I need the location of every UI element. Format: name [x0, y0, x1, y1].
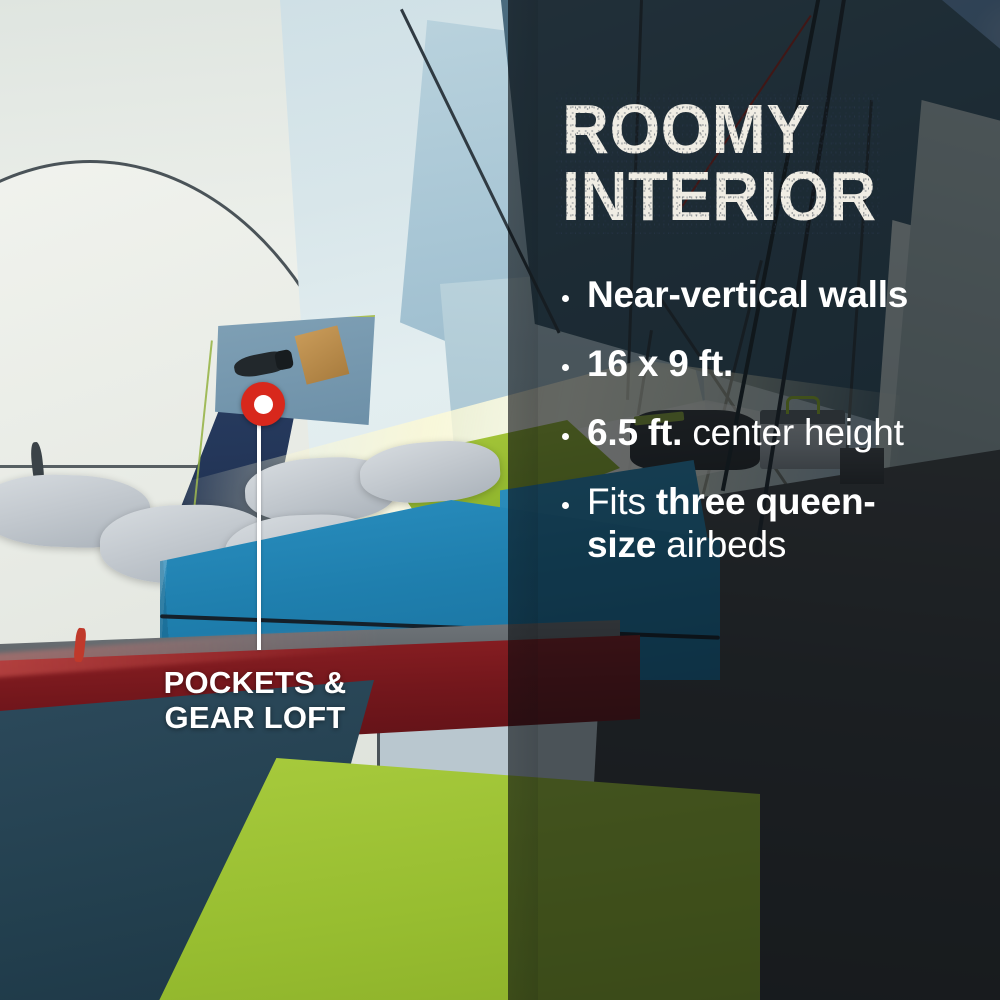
feature-text-4: Fits three queen-size airbeds: [587, 481, 917, 567]
callout-label-line2: GEAR LOFT: [0, 700, 510, 735]
feature-text-4-lead: Fits: [587, 481, 656, 522]
feature-text-3-bold: 6.5 ft.: [587, 412, 682, 453]
feature-list: Near-vertical walls 16 x 9 ft. 6.5 ft. c…: [562, 274, 986, 567]
product-feature-card: POCKETS & GEAR LOFT ROOMY INTERIOR Near-…: [0, 0, 1000, 1000]
feature-text-panel: ROOMY INTERIOR Near-vertical walls 16 x …: [508, 0, 1000, 1000]
feature-text-3: 6.5 ft. center height: [587, 412, 904, 455]
headline-line-1: ROOMY: [562, 96, 877, 163]
bullet-dot-icon: [562, 295, 569, 302]
callout-label-line1: POCKETS &: [0, 665, 510, 700]
callout-marker-core: [254, 395, 273, 414]
bullet-dot-icon: [562, 364, 569, 371]
page-title: ROOMY INTERIOR: [562, 96, 877, 230]
list-item: Near-vertical walls: [562, 274, 986, 317]
list-item: 6.5 ft. center height: [562, 412, 986, 455]
callout-label: POCKETS & GEAR LOFT: [0, 665, 510, 736]
feature-text-1: Near-vertical walls: [587, 274, 908, 317]
list-item: 16 x 9 ft.: [562, 343, 986, 386]
headline-line-2: INTERIOR: [562, 163, 877, 230]
list-item: Fits three queen-size airbeds: [562, 481, 986, 567]
callout-marker-icon[interactable]: [241, 382, 285, 426]
feature-text-2: 16 x 9 ft.: [587, 343, 733, 386]
callout-stem: [257, 420, 261, 650]
bullet-dot-icon: [562, 433, 569, 440]
bullet-dot-icon: [562, 502, 569, 509]
feature-text-3-rest: center height: [682, 412, 903, 453]
feature-text-4-rest: airbeds: [656, 524, 786, 565]
